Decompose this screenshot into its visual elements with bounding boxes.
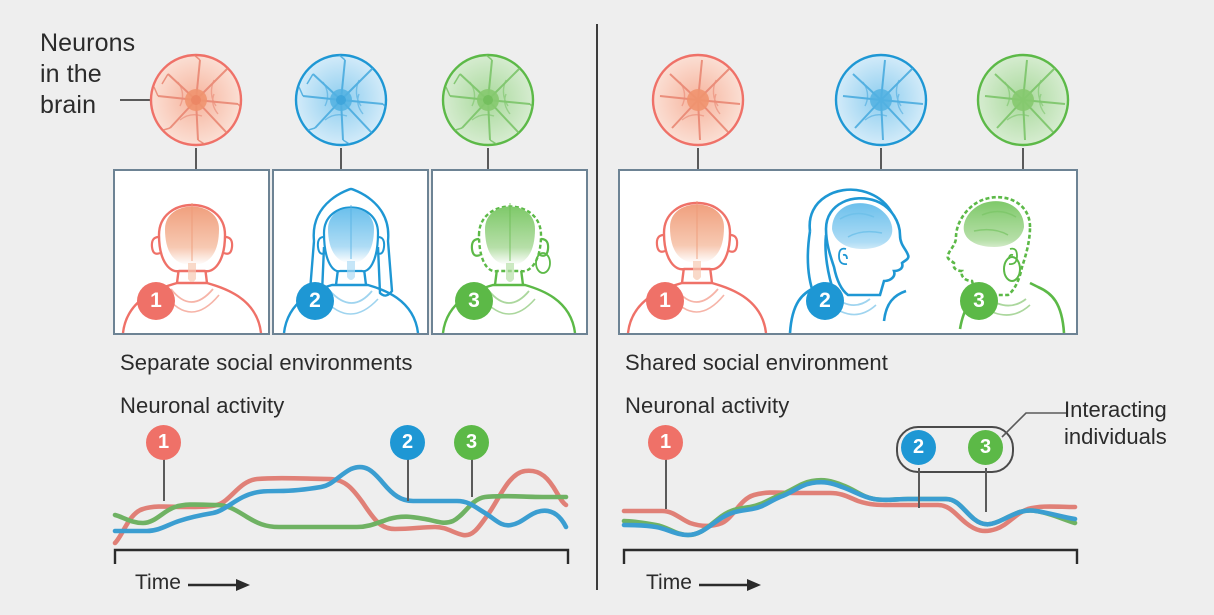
badge-label: 3 (980, 436, 991, 459)
right-panel-shared-box: 1 2 3 (618, 169, 1078, 335)
trace-badge-1: 1 (146, 425, 181, 460)
trace-badge-1-right: 1 (648, 425, 683, 460)
subject-1-figure (628, 201, 766, 333)
left-panel-cell-1: 1 (113, 169, 270, 335)
badge-label: 3 (973, 289, 985, 313)
trace-stem-1 (163, 455, 165, 501)
left-time-label: Time (135, 571, 181, 595)
trace-subject-1 (624, 493, 1075, 532)
trace-stem-3-right (985, 468, 987, 512)
right-activity-label: Neuronal activity (625, 393, 789, 419)
left-panel-cell-3: 3 (431, 169, 588, 335)
badge-subject-1: 1 (646, 282, 684, 320)
interacting-callout-leader (1000, 405, 1070, 440)
trace-stem-3 (471, 455, 473, 497)
badge-subject-2: 2 (296, 282, 334, 320)
right-activity-plot (622, 455, 1077, 550)
trace-stem-2 (407, 455, 409, 501)
badge-label: 2 (402, 431, 413, 454)
left-panel-cell-2: 2 (272, 169, 429, 335)
trace-badge-3-right: 3 (968, 430, 1003, 465)
neuron-circle-2-right (833, 52, 929, 148)
trace-stem-2-right (918, 468, 920, 508)
badge-subject-3: 3 (455, 282, 493, 320)
panel-divider (596, 24, 598, 590)
trace-badge-2-right: 2 (901, 430, 936, 465)
trace-subject-2 (624, 482, 1075, 535)
badge-subject-1: 1 (137, 282, 175, 320)
left-panel-caption: Separate social environments (120, 350, 413, 376)
badge-label: 3 (466, 431, 477, 454)
left-activity-label: Neuronal activity (120, 393, 284, 419)
badge-subject-2: 2 (806, 282, 844, 320)
subject-2-figure (790, 190, 908, 333)
trace-stem-1-right (665, 455, 667, 509)
badge-label: 1 (150, 289, 162, 313)
figure-root: Neurons in the brain (0, 0, 1214, 615)
badge-label: 2 (913, 436, 924, 459)
right-time-axis (622, 548, 1079, 566)
badge-label: 1 (158, 431, 169, 454)
badge-label: 2 (309, 289, 321, 313)
trace-badge-3: 3 (454, 425, 489, 460)
right-panel-caption: Shared social environment (625, 350, 888, 376)
left-time-axis (113, 548, 570, 566)
badge-label: 1 (660, 431, 671, 454)
trace-badge-2: 2 (390, 425, 425, 460)
right-time-label: Time (646, 571, 692, 595)
neuron-circle-1-right (650, 52, 746, 148)
neuron-circle-3 (440, 52, 536, 148)
interacting-individuals-label: Interacting individuals (1064, 396, 1214, 450)
neuron-circle-1 (148, 52, 244, 148)
right-time-arrow (699, 578, 763, 592)
badge-subject-3: 3 (960, 282, 998, 320)
neuron-circle-3-right (975, 52, 1071, 148)
left-time-arrow (188, 578, 252, 592)
badge-label: 2 (819, 289, 831, 313)
badge-label: 1 (659, 289, 671, 313)
badge-label: 3 (468, 289, 480, 313)
neuron-circle-2 (293, 52, 389, 148)
left-activity-plot (113, 455, 568, 550)
